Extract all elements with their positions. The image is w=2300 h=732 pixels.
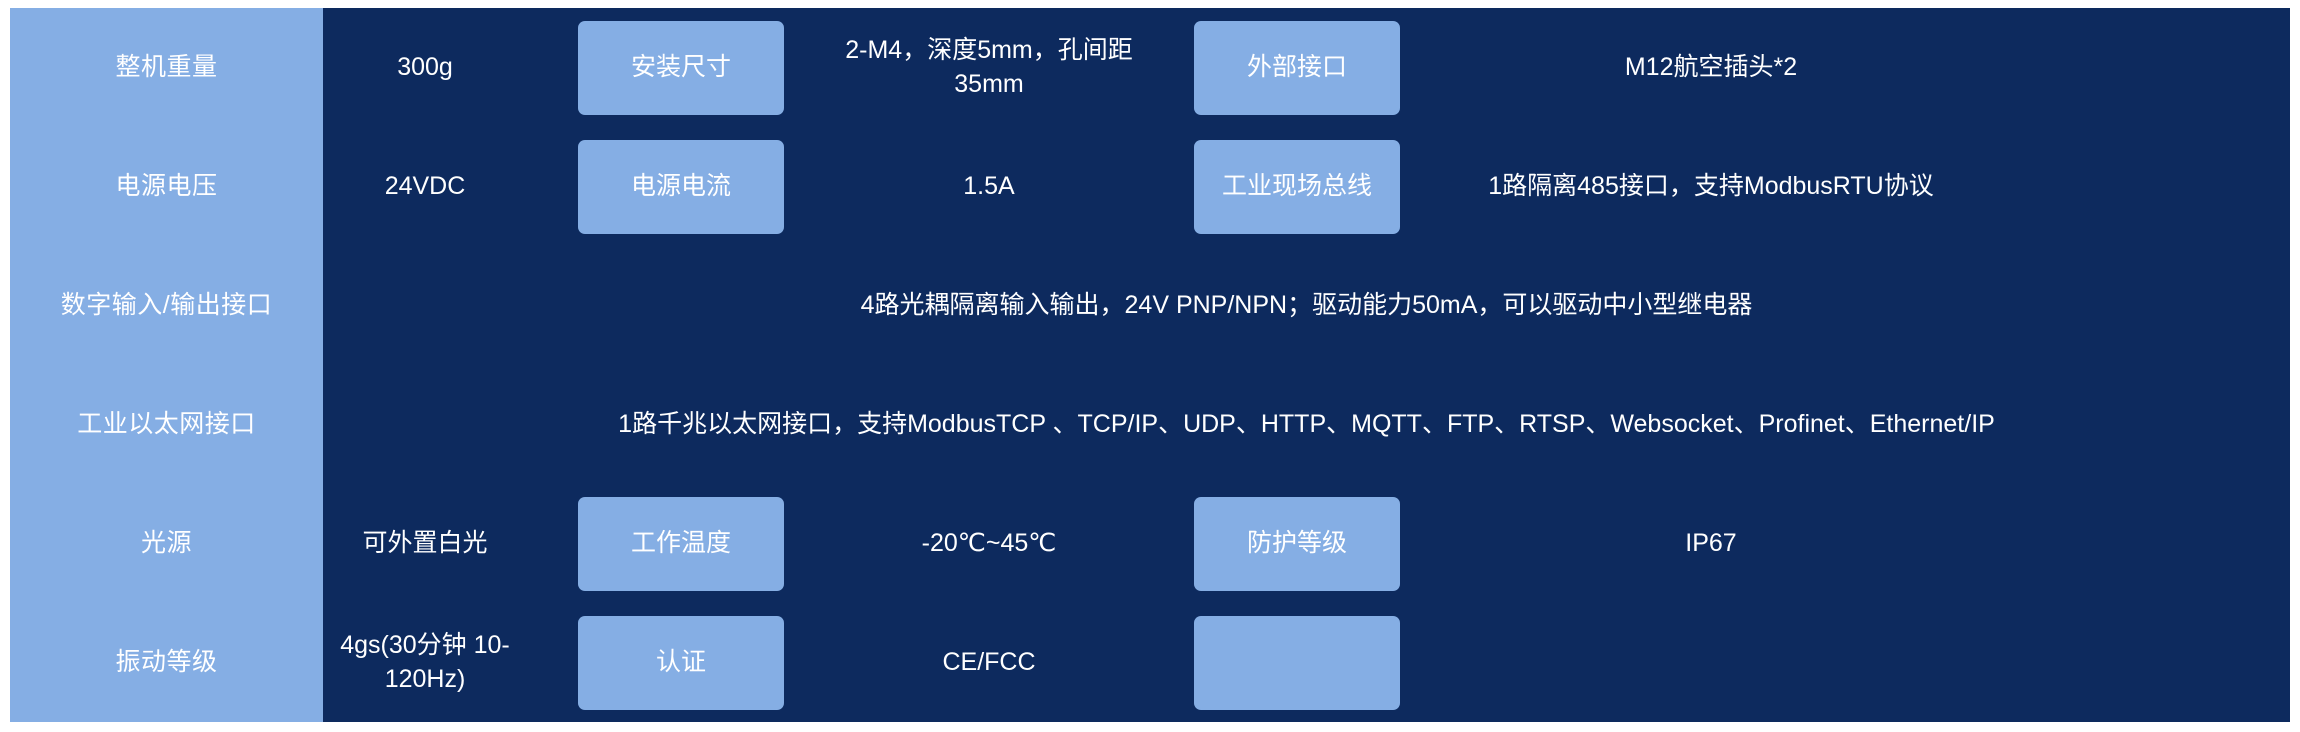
key-chip: 外部接口 — [1194, 21, 1400, 115]
row-value-2: 2-M4，深度5mm，孔间距35mm — [835, 8, 1143, 127]
spec-table-sheet: 整机重量 电源电压 数字输入/输出接口 工业以太网接口 光源 振动等级 300g… — [0, 0, 2300, 732]
row-value-1: 300g — [323, 8, 527, 127]
table-row: 4路光耦隔离输入输出，24V PNP/NPN；驱动能力50mA，可以驱动中小型继… — [323, 246, 2290, 365]
key-chip: 认证 — [578, 616, 784, 710]
table-row: 24VDC 电源电流 1.5A 工业现场总线 1路隔离485接口，支持Modbu… — [323, 127, 2290, 246]
table-row: 1路千兆以太网接口，支持ModbusTCP 、TCP/IP、UDP、HTTP、M… — [323, 365, 2290, 484]
key-chip: 防护等级 — [1194, 497, 1400, 591]
table-row: 可外置白光 工作温度 -20℃~45℃ 防护等级 IP67 — [323, 484, 2290, 603]
row-key-3: 工业现场总线 — [1143, 127, 1451, 246]
row-label: 电源电压 — [10, 127, 323, 246]
row-value-2: CE/FCC — [835, 603, 1143, 722]
key-chip: 安装尺寸 — [578, 21, 784, 115]
row-key-3: 防护等级 — [1143, 484, 1451, 603]
key-chip-empty — [1194, 616, 1400, 710]
spec-label-column: 整机重量 电源电压 数字输入/输出接口 工业以太网接口 光源 振动等级 — [10, 8, 323, 722]
row-value-3 — [1451, 603, 1971, 722]
row-value-full: 4路光耦隔离输入输出，24V PNP/NPN；驱动能力50mA，可以驱动中小型继… — [323, 246, 2290, 365]
key-chip: 工作温度 — [578, 497, 784, 591]
row-value-2: -20℃~45℃ — [835, 484, 1143, 603]
row-key-3 — [1143, 603, 1451, 722]
row-value-1: 24VDC — [323, 127, 527, 246]
row-key-3: 外部接口 — [1143, 8, 1451, 127]
row-label: 振动等级 — [10, 603, 323, 722]
row-value-3: M12航空插头*2 — [1451, 8, 1971, 127]
row-label: 数字输入/输出接口 — [10, 246, 323, 365]
row-label: 整机重量 — [10, 8, 323, 127]
row-value-3: IP67 — [1451, 484, 1971, 603]
table-row: 300g 安装尺寸 2-M4，深度5mm，孔间距35mm 外部接口 M12航空插… — [323, 8, 2290, 127]
row-value-2: 1.5A — [835, 127, 1143, 246]
table-row: 4gs(30分钟 10-120Hz) 认证 CE/FCC — [323, 603, 2290, 722]
row-value-full: 1路千兆以太网接口，支持ModbusTCP 、TCP/IP、UDP、HTTP、M… — [323, 365, 2290, 484]
key-chip: 电源电流 — [578, 140, 784, 234]
row-label: 工业以太网接口 — [10, 365, 323, 484]
row-key-2: 电源电流 — [527, 127, 835, 246]
row-value-1: 4gs(30分钟 10-120Hz) — [323, 603, 527, 722]
row-key-2: 认证 — [527, 603, 835, 722]
row-key-2: 安装尺寸 — [527, 8, 835, 127]
row-value-1: 可外置白光 — [323, 484, 527, 603]
spec-rows: 300g 安装尺寸 2-M4，深度5mm，孔间距35mm 外部接口 M12航空插… — [323, 8, 2290, 722]
row-label: 光源 — [10, 484, 323, 603]
key-chip: 工业现场总线 — [1194, 140, 1400, 234]
row-value-3: 1路隔离485接口，支持ModbusRTU协议 — [1451, 127, 1971, 246]
row-key-2: 工作温度 — [527, 484, 835, 603]
